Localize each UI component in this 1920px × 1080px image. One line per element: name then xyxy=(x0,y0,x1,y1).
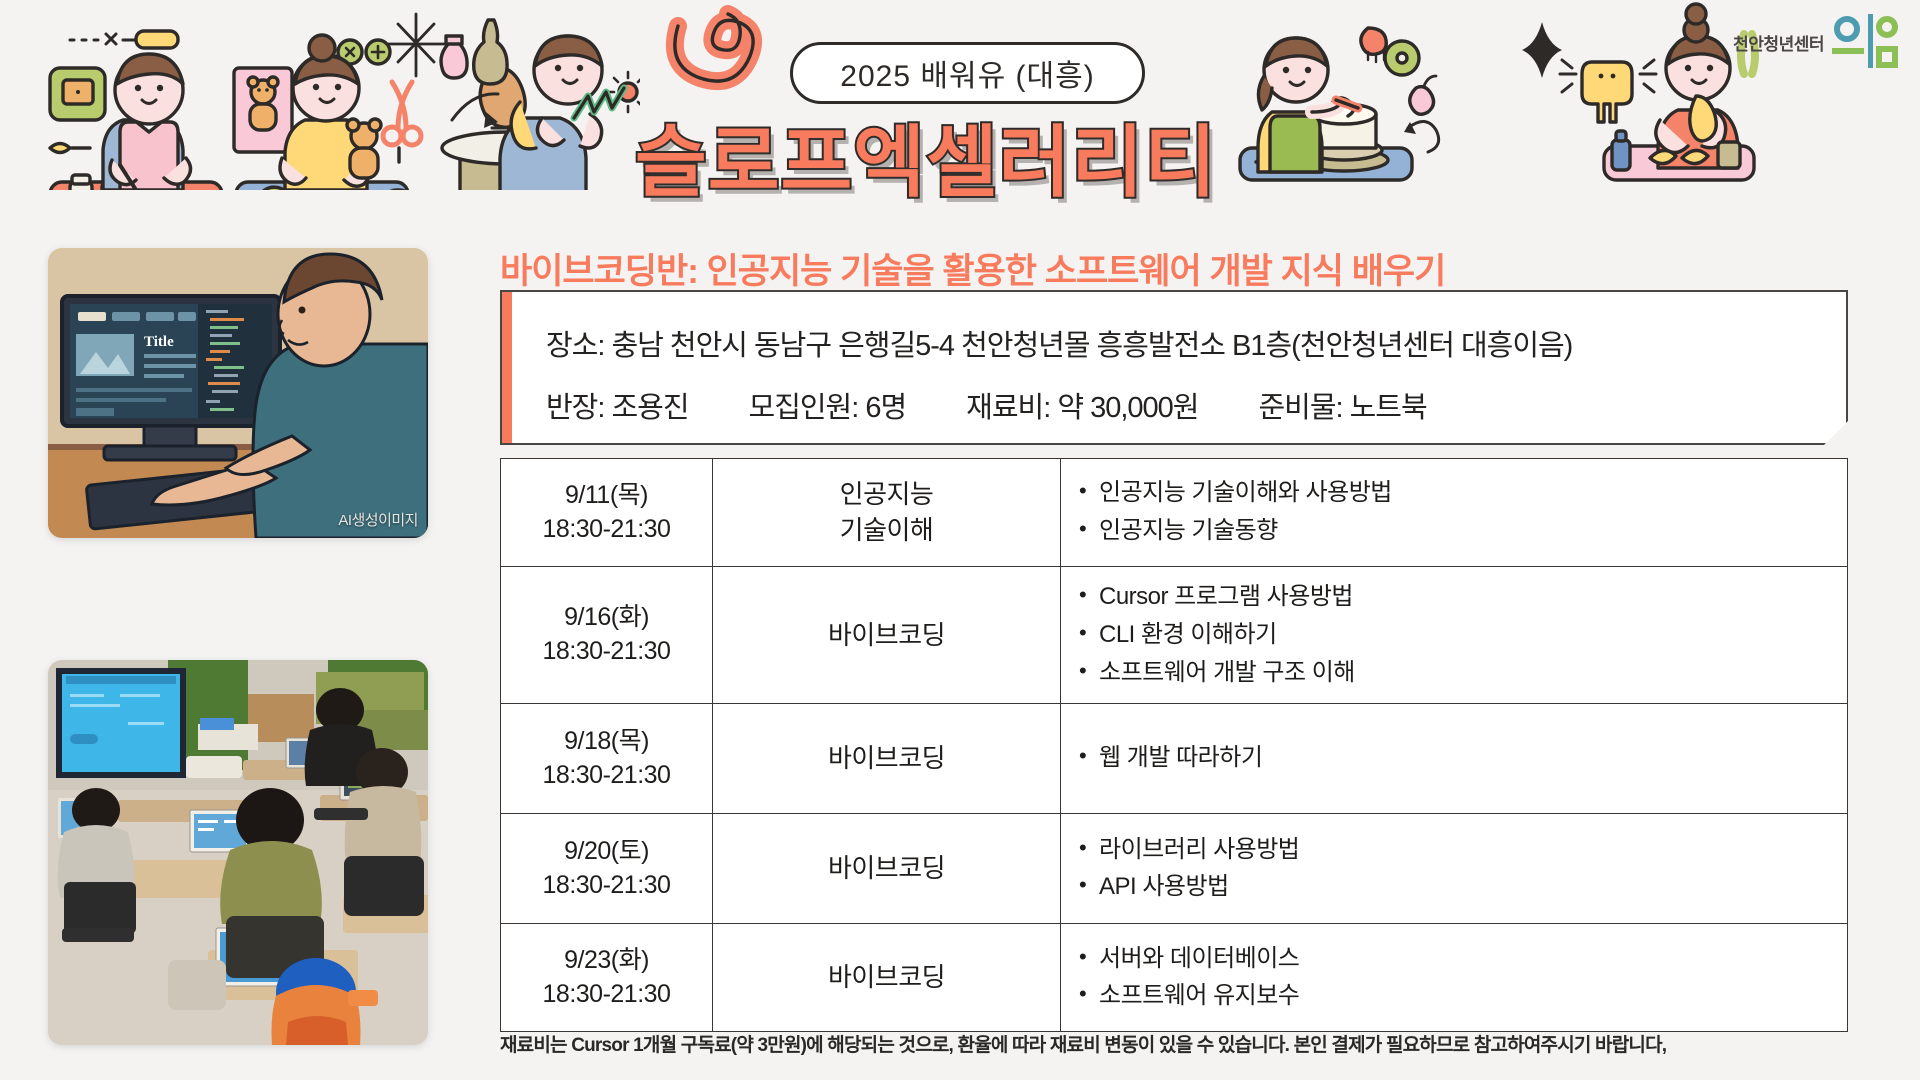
schedule-date: 9/20(토) xyxy=(564,837,649,865)
course-meta-row: 반장: 조용진 모집인원: 6명 재료비: 약 30,000원 준비물: 노트북 xyxy=(546,384,1427,426)
course-supplies: 준비물: 노트북 xyxy=(1258,384,1426,426)
course-leader: 반장: 조용진 xyxy=(546,384,689,426)
schedule-date: 9/11(목) xyxy=(565,481,648,509)
list-item: 서버와 데이터베이스 xyxy=(1079,942,1847,977)
schedule-date: 9/16(화) xyxy=(564,603,649,631)
list-item: API 사용방법 xyxy=(1079,870,1847,905)
illustration-craft-left xyxy=(20,0,640,190)
schedule-topic-line: 바이브코딩 xyxy=(828,962,945,992)
page-title: 슬로프엑셀러리티 xyxy=(635,100,1217,212)
schedule-topic-line: 바이브코딩 xyxy=(828,620,945,650)
schedule-time: 18:30-21:30 xyxy=(543,637,671,665)
illustration-pottery-right xyxy=(1500,0,1760,190)
schedule-topic-line: 바이브코딩 xyxy=(828,743,945,773)
schedule-topic-cell: 바이브코딩 xyxy=(713,704,1061,814)
badge-label: 2025 배워유 (대흥) xyxy=(840,51,1094,95)
illustration-baking xyxy=(1220,0,1470,190)
schedule-time: 18:30-21:30 xyxy=(543,980,671,1008)
schedule-detail-cell: 인공지능 기술이해와 사용방법인공지능 기술동향 xyxy=(1061,459,1848,567)
schedule-date-cell: 9/16(화)18:30-21:30 xyxy=(501,567,713,704)
schedule-detail-list: 라이브러리 사용방법API 사용방법 xyxy=(1079,833,1847,906)
list-item: CLI 환경 이해하기 xyxy=(1079,618,1847,653)
organization-logo: 천안청년센터 xyxy=(1733,14,1898,70)
ieum-logo-icon xyxy=(1834,14,1898,70)
table-row: 9/16(화)18:30-21:30바이브코딩Cursor 프로그램 사용방법C… xyxy=(501,567,1848,704)
course-subtitle: 바이브코딩반: 인공지능 기술을 활용한 소프트웨어 개발 지식 배우기 xyxy=(500,243,1445,294)
schedule-time: 18:30-21:30 xyxy=(543,761,671,789)
schedule-topic-line: 기술이해 xyxy=(840,515,934,545)
schedule-detail-cell: 라이브러리 사용방법API 사용방법 xyxy=(1061,814,1848,924)
schedule-detail-cell: 웹 개발 따라하기 xyxy=(1061,704,1848,814)
schedule-detail-list: 웹 개발 따라하기 xyxy=(1079,741,1847,776)
ai-image-watermark: AI생성이미지 xyxy=(338,509,418,530)
poster-root: 2025 배워유 (대흥) 슬로프엑셀러리티 xyxy=(0,0,1920,1080)
info-accent-bar xyxy=(502,292,512,443)
schedule-date-cell: 9/23(화)18:30-21:30 xyxy=(501,924,713,1032)
schedule-date: 9/23(화) xyxy=(564,946,649,974)
course-info-box: 장소: 충남 천안시 동남구 은행길5-4 천안청년몰 흥흥발전소 B1층(천안… xyxy=(500,290,1848,445)
logo-text: 천안청년센터 xyxy=(1733,30,1824,55)
table-row: 9/23(화)18:30-21:30바이브코딩서버와 데이터베이스소프트웨어 유… xyxy=(501,924,1848,1032)
material-fee-footnote: 재료비는 Cursor 1개월 구독료(약 3만원)에 해당되는 것으로, 환율… xyxy=(500,1030,1666,1057)
ai-generated-coding-image: Title xyxy=(48,248,428,538)
course-location: 장소: 충남 천안시 동남구 은행길5-4 천안청년몰 흥흥발전소 B1층(천안… xyxy=(546,322,1572,364)
schedule-date-cell: 9/18(목)18:30-21:30 xyxy=(501,704,713,814)
schedule-topic-cell: 바이브코딩 xyxy=(713,567,1061,704)
schedule-detail-list: 서버와 데이터베이스소프트웨어 유지보수 xyxy=(1079,942,1847,1015)
schedule-date: 9/18(목) xyxy=(564,727,649,755)
schedule-topic-cell: 바이브코딩 xyxy=(713,814,1061,924)
list-item: 소프트웨어 개발 구조 이해 xyxy=(1079,656,1847,691)
year-program-badge: 2025 배워유 (대흥) xyxy=(790,42,1145,104)
list-item: Cursor 프로그램 사용방법 xyxy=(1079,580,1847,615)
list-item: 라이브러리 사용방법 xyxy=(1079,833,1847,868)
schedule-topic-line: 바이브코딩 xyxy=(828,853,945,883)
course-material-fee: 재료비: 약 30,000원 xyxy=(966,384,1198,426)
list-item: 소프트웨어 유지보수 xyxy=(1079,979,1847,1014)
schedule-date-cell: 9/20(토)18:30-21:30 xyxy=(501,814,713,924)
schedule-detail-cell: Cursor 프로그램 사용방법CLI 환경 이해하기소프트웨어 개발 구조 이… xyxy=(1061,567,1848,704)
schedule-detail-list: 인공지능 기술이해와 사용방법인공지능 기술동향 xyxy=(1079,476,1847,549)
schedule-table: 9/11(목)18:30-21:30인공지능기술이해인공지능 기술이해와 사용방… xyxy=(500,458,1848,1032)
schedule-topic-cell: 인공지능기술이해 xyxy=(713,459,1061,567)
schedule-time: 18:30-21:30 xyxy=(543,871,671,899)
schedule-time: 18:30-21:30 xyxy=(543,515,671,543)
table-row: 9/20(토)18:30-21:30바이브코딩라이브러리 사용방법API 사용방… xyxy=(501,814,1848,924)
list-item: 인공지능 기술이해와 사용방법 xyxy=(1079,476,1847,511)
list-item: 웹 개발 따라하기 xyxy=(1079,741,1847,776)
schedule-topic-line: 인공지능 xyxy=(840,479,934,509)
schedule-topic-cell: 바이브코딩 xyxy=(713,924,1061,1032)
classroom-photo xyxy=(48,660,428,1045)
list-item: 인공지능 기술동향 xyxy=(1079,514,1847,549)
header-band: 2025 배워유 (대흥) 슬로프엑셀러리티 xyxy=(0,0,1920,200)
table-row: 9/18(목)18:30-21:30바이브코딩웹 개발 따라하기 xyxy=(501,704,1848,814)
schedule-detail-list: Cursor 프로그램 사용방법CLI 환경 이해하기소프트웨어 개발 구조 이… xyxy=(1079,580,1847,690)
schedule-date-cell: 9/11(목)18:30-21:30 xyxy=(501,459,713,567)
course-capacity: 모집인원: 6명 xyxy=(749,384,907,426)
table-row: 9/11(목)18:30-21:30인공지능기술이해인공지능 기술이해와 사용방… xyxy=(501,459,1848,567)
schedule-table-body: 9/11(목)18:30-21:30인공지능기술이해인공지능 기술이해와 사용방… xyxy=(501,459,1848,1032)
schedule-detail-cell: 서버와 데이터베이스소프트웨어 유지보수 xyxy=(1061,924,1848,1032)
svg-text:Title: Title xyxy=(144,334,174,350)
